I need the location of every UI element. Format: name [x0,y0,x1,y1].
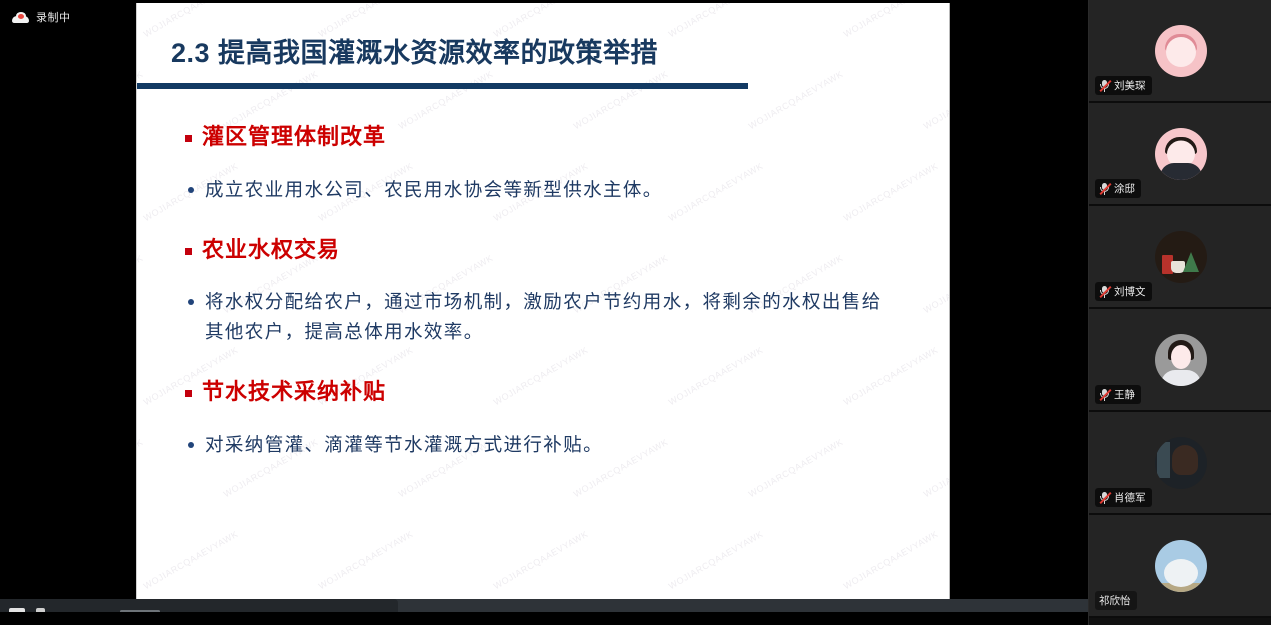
slide-section: 节水技术采纳补贴 对采纳管灌、滴灌等节水灌溉方式进行补贴。 [137,378,949,461]
slide-section: 灌区管理体制改革 成立农业用水公司、农民用水协会等新型供水主体。 [137,123,949,206]
square-bullet-icon [185,390,192,397]
section-body-row: 将水权分配给农户，通过市场机制，激励农户节约用水，将剩余的水权出售给其他农户，提… [137,288,949,348]
slide-title: 2.3 提高我国灌溉水资源效率的政策举措 [171,31,658,70]
section-heading: 节水技术采纳补贴 [202,378,386,407]
cloud-record-icon [12,12,29,23]
participant-nameplate: 刘博文 [1095,282,1152,301]
participant-tile[interactable]: 刘博文 [1089,206,1271,309]
participant-tile[interactable]: 祁欣怡 [1089,515,1271,618]
participant-name: 祁欣怡 [1099,593,1131,608]
meeting-toolbar[interactable] [0,599,1088,612]
section-heading: 灌区管理体制改革 [202,123,386,152]
slide-content: 灌区管理体制改革 成立农业用水公司、农民用水协会等新型供水主体。 [137,123,949,461]
section-body: 将水权分配给农户，通过市场机制，激励农户节约用水，将剩余的水权出售给其他农户，提… [205,288,895,348]
toolbar-left-group[interactable] [0,599,398,612]
square-bullet-icon [185,135,192,142]
mic-muted-icon [1099,388,1110,401]
title-underline-rule [137,83,748,89]
avatar [1155,437,1207,489]
camera-icon[interactable] [36,608,45,612]
section-heading-row: 灌区管理体制改革 [137,123,949,152]
participant-nameplate: 涂邸 [1095,179,1141,198]
participant-name: 刘美琛 [1114,78,1146,93]
participant-name: 涂邸 [1114,181,1135,196]
avatar [1155,128,1207,180]
section-heading-row: 节水技术采纳补贴 [137,378,949,407]
mic-muted-icon [1099,491,1110,504]
section-heading: 农业水权交易 [202,236,340,265]
avatar [1155,231,1207,283]
mic-muted-icon [1099,79,1110,92]
mic-muted-icon [1099,182,1110,195]
presentation-slide: WOJIARCQAAEVYAWKWOJIARCQAAEVYAWKWOJIARCQ… [136,3,950,612]
avatar [1155,25,1207,77]
toolbar-label-strip [120,610,160,612]
section-body-row: 对采纳管灌、滴灌等节水灌溉方式进行补贴。 [137,431,949,461]
dot-bullet-icon [188,299,194,305]
recording-label: 录制中 [36,9,71,25]
avatar [1155,334,1207,386]
participant-nameplate: 祁欣怡 [1095,591,1137,610]
section-heading-row: 农业水权交易 [137,236,949,265]
section-body-row: 成立农业用水公司、农民用水协会等新型供水主体。 [137,176,949,206]
meeting-window: WOJIARCQAAEVYAWKWOJIARCQAAEVYAWKWOJIARCQ… [0,0,1271,625]
square-bullet-icon [185,248,192,255]
participant-tile[interactable]: 涂邸 [1089,103,1271,206]
dot-bullet-icon [188,442,194,448]
slide-section: 农业水权交易 将水权分配给农户，通过市场机制，激励农户节约用水，将剩余的水权出售… [137,236,949,349]
recording-indicator: 录制中 [12,9,71,25]
participant-name: 刘博文 [1114,284,1146,299]
participant-tile[interactable]: 王静 [1089,309,1271,412]
participant-name: 王静 [1114,387,1135,402]
participant-name: 肖德军 [1114,490,1146,505]
avatar [1155,540,1207,592]
participant-nameplate: 刘美琛 [1095,76,1152,95]
dot-bullet-icon [188,187,194,193]
participant-rail[interactable]: 刘美琛 涂邸 [1088,0,1271,625]
participant-nameplate: 王静 [1095,385,1141,404]
section-body: 对采纳管灌、滴灌等节水灌溉方式进行补贴。 [205,431,603,461]
mic-muted-icon [1099,285,1110,298]
participant-tile[interactable]: 肖德军 [1089,412,1271,515]
microphone-icon[interactable] [9,608,25,612]
participant-tile[interactable]: 刘美琛 [1089,0,1271,103]
participant-nameplate: 肖德军 [1095,488,1152,507]
shared-screen-stage[interactable]: WOJIARCQAAEVYAWKWOJIARCQAAEVYAWKWOJIARCQ… [0,0,1088,612]
section-body: 成立农业用水公司、农民用水协会等新型供水主体。 [205,176,663,206]
